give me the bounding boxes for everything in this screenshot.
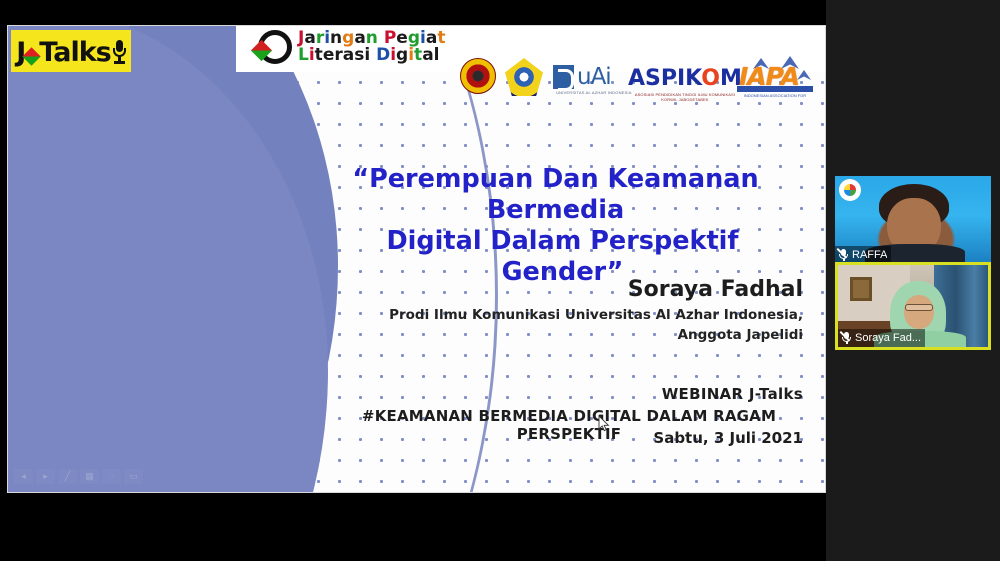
aspikom-o-glyph: O — [701, 66, 720, 91]
presenter-affiliation-line-1: Prodi Ilmu Komunikasi Universitas Al Azh… — [303, 306, 803, 326]
slide-footer-webinar: WEBINAR J-Talks — [662, 385, 803, 403]
participant-name-bar: Soraya Fad... — [838, 329, 925, 347]
aspikom-label: ASPIK — [628, 66, 701, 91]
presentation-slide[interactable]: JTalks Jaringan Pegiat Literasi Digital … — [8, 26, 825, 492]
shared-screen-stage[interactable]: JTalks Jaringan Pegiat Literasi Digital … — [0, 0, 826, 561]
participant-tile-soraya[interactable]: Soraya Fad... — [835, 262, 991, 350]
pen-tool-button[interactable]: ╱ — [58, 469, 77, 484]
presenter-affiliation-line-2: Anggota Japelidi — [303, 326, 803, 346]
japelidi-line2: Literasi Digital — [298, 47, 445, 64]
slide-footer-date: Sabtu, 3 Juli 2021 — [653, 429, 803, 447]
stamp-tool-button[interactable]: ▦ — [80, 469, 99, 484]
slide-logo-bar: JTalks Jaringan Pegiat Literasi Digital … — [8, 26, 825, 74]
eraser-tool-button[interactable]: ▭ — [124, 469, 143, 484]
university-emblem-1-icon — [460, 58, 496, 94]
iapa-label: IAPA — [739, 62, 799, 91]
annotation-toolbar[interactable]: ◂▸╱▦◌▭ — [14, 468, 143, 485]
next-slide-button[interactable]: ▸ — [36, 469, 55, 484]
presenter-affiliation: Prodi Ilmu Komunikasi Universitas Al Azh… — [303, 306, 803, 345]
japelidi-logo: Jaringan Pegiat Literasi Digital — [258, 30, 445, 65]
meeting-window: JTalks Jaringan Pegiat Literasi Digital … — [0, 0, 1000, 561]
bird-icon — [797, 70, 811, 80]
jtalks-logo-j: J — [16, 37, 25, 68]
aspikom-sublabel-2: KORWIL JABODETABEK — [628, 97, 742, 102]
uai-mark-icon — [553, 65, 574, 89]
slide-title: “Perempuan Dan Keamanan Bermedia Digital… — [308, 164, 803, 288]
iapa-logo: IAPA INDONESIAN ASSOCIATION FOR PUBLIC A… — [735, 56, 815, 98]
participant-name-label: Soraya Fad... — [855, 332, 921, 344]
microphone-icon — [113, 40, 126, 64]
japelidi-ring-icon — [258, 30, 292, 64]
mic-muted-icon — [842, 332, 851, 344]
jtalks-logo: JTalks — [11, 30, 131, 72]
channel-logo-icon — [839, 179, 861, 201]
jtalks-logo-talks: Talks — [39, 37, 110, 68]
uai-label: uAi — [577, 64, 611, 90]
uai-sublabel: UNIVERSITAS AL AZHAR INDONESIA — [556, 90, 632, 95]
spotlight-tool-button[interactable]: ◌ — [102, 469, 121, 484]
iapa-sublabel: INDONESIAN ASSOCIATION FOR PUBLIC ADMINI… — [737, 93, 813, 98]
prev-slide-button[interactable]: ◂ — [14, 469, 33, 484]
presenter-name: Soraya Fadhal — [628, 277, 803, 302]
wall-picture-decoration — [850, 277, 872, 301]
participant-tile-raffa[interactable]: RAFFA — [835, 176, 991, 264]
mic-muted-icon — [839, 249, 848, 261]
participant-rail: RAFFA Soraya Fad... — [826, 0, 1000, 561]
mouse-cursor — [598, 415, 610, 432]
slide-title-line-1: “Perempuan Dan Keamanan Bermedia — [308, 164, 803, 226]
aspikom-logo: ASPIKOM ASOSIASI PENDIDIKAN TINGGI ILMU … — [628, 66, 742, 102]
uai-logo: uAi — [553, 64, 611, 90]
participant-name-label: RAFFA — [852, 249, 887, 261]
